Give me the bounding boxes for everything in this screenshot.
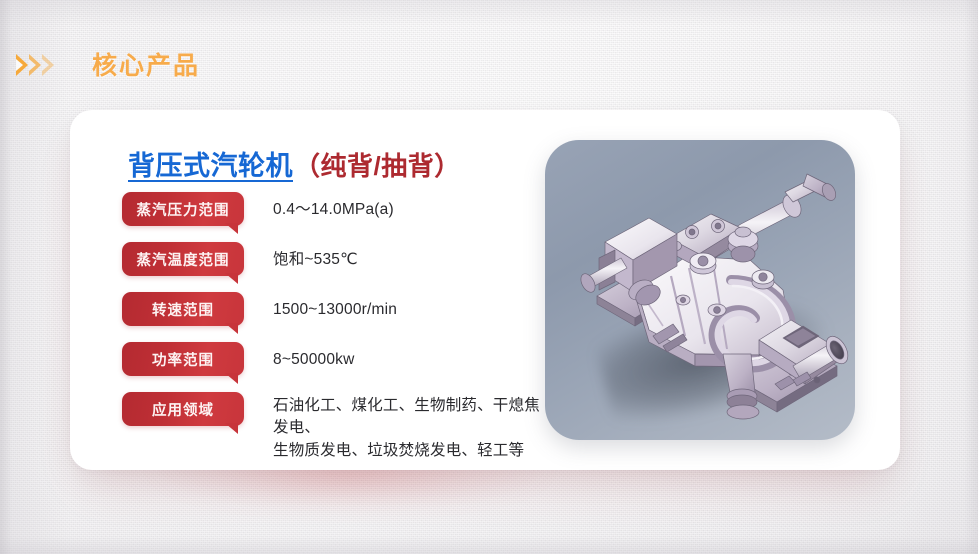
chevron-right-icon-2 [29, 54, 41, 76]
spec-value: 0.4～14.0MPa(a) [273, 192, 394, 221]
spec-value: 1500~13000r/min [273, 292, 397, 321]
section-title: 核心产品 [92, 46, 200, 82]
spec-label-badge: 蒸汽压力范围 [122, 192, 244, 226]
spec-label-badge: 应用领域 [122, 392, 244, 426]
chevron-right-icon-1 [16, 54, 28, 76]
section-header: 核心产品 [16, 46, 200, 82]
spec-value: 石油化工、煤化工、生物制药、干熄焦发电、 生物质发电、垃圾焚烧发电、轻工等 [273, 392, 542, 462]
slide-root: 核心产品 背压式汽轮机 （纯背/抽背） 蒸汽压力范围 0.4～14.0MPa(a… [0, 0, 978, 554]
spec-row: 蒸汽温度范围 饱和~535℃ [122, 242, 542, 292]
spec-row: 功率范围 8~50000kw [122, 342, 542, 392]
spec-row: 蒸汽压力范围 0.4～14.0MPa(a) [122, 192, 542, 242]
product-title: 背压式汽轮机 （纯背/抽背） [128, 144, 461, 183]
spec-row: 应用领域 石油化工、煤化工、生物制药、干熄焦发电、 生物质发电、垃圾焚烧发电、轻… [122, 392, 542, 456]
steam-turbine-render [545, 140, 855, 440]
product-title-variant: （纯背/抽背） [294, 146, 461, 183]
spec-label-badge: 转速范围 [122, 292, 244, 326]
spec-value: 饱和~535℃ [273, 242, 358, 271]
product-render-panel [545, 140, 855, 440]
spec-row: 转速范围 1500~13000r/min [122, 292, 542, 342]
double-chevron-right-icon [16, 54, 54, 76]
spec-label-badge: 功率范围 [122, 342, 244, 376]
spec-list: 蒸汽压力范围 0.4～14.0MPa(a) 蒸汽温度范围 饱和~535℃ 转速范… [122, 192, 542, 456]
spec-value: 8~50000kw [273, 342, 355, 371]
chevron-right-icon-3 [42, 54, 54, 76]
spec-label-badge: 蒸汽温度范围 [122, 242, 244, 276]
product-title-main: 背压式汽轮机 [128, 144, 293, 183]
